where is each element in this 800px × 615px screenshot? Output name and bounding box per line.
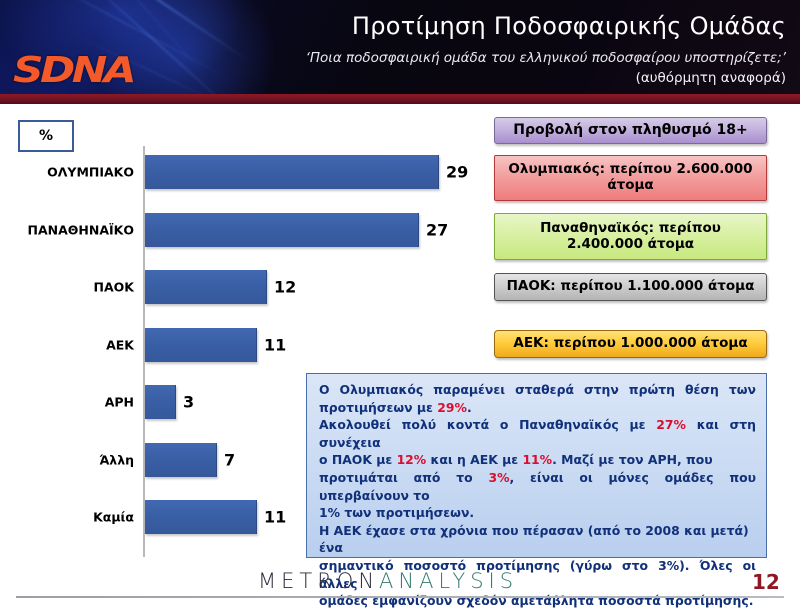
bar-category-label: ΑΡΗ	[13, 395, 143, 410]
callout-projection-title: Προβολή στον πληθυσμό 18+	[494, 117, 767, 144]
commentary-text: . Μαζί με τον ΑΡΗ, που	[552, 452, 713, 467]
bar	[145, 328, 257, 362]
bar-value-label: 11	[264, 335, 286, 354]
commentary-text: Ακολουθεί πολύ κοντά ο Παναθηναϊκός με	[319, 417, 656, 432]
commentary-line: Ακολουθεί πολύ κοντά ο Παναθηναϊκός με 2…	[319, 416, 756, 451]
bar-category-label: Άλλη	[13, 452, 143, 467]
brand-analysis: ANALYSIS	[379, 569, 518, 593]
callout-olympiakos: Ολυμπιακός: περίπου 2.600.000 άτομα	[494, 155, 767, 201]
metron-analysis-logo: METRONANALYSIS	[258, 569, 518, 593]
commentary-box: Ο Ολυμπιακός παραμένει σταθερά στην πρώτ…	[306, 373, 767, 558]
bar-value-label: 27	[426, 220, 448, 239]
footer-divider	[16, 596, 784, 598]
commentary-text: 1% των προτιμήσεων.	[319, 505, 474, 520]
callout-panathinaikos: Παναθηναϊκός: περίπου 2.400.000 άτομα	[494, 213, 767, 260]
bar	[145, 443, 217, 477]
commentary-highlight: 3%	[488, 470, 509, 485]
callout-paok: ΠΑΟΚ: περίπου 1.100.000 άτομα	[494, 273, 767, 301]
bar-category-label: ΑΕΚ	[13, 337, 143, 352]
commentary-line: προτιμάται από το 3%, είναι οι μόνες ομά…	[319, 469, 756, 504]
commentary-line: ο ΠΑΟΚ με 12% και η ΑΕΚ με 11%. Μαζί με …	[319, 451, 756, 469]
commentary-highlight: 11%	[522, 452, 552, 467]
commentary-line: Ο Ολυμπιακός παραμένει σταθερά στην πρώτ…	[319, 381, 756, 399]
bar	[145, 385, 176, 419]
commentary-line: 1% των προτιμήσεων.	[319, 504, 756, 522]
commentary-highlight: 29%	[437, 400, 467, 415]
bar-value-label: 12	[274, 278, 296, 297]
bar	[145, 500, 257, 534]
bar	[145, 270, 267, 304]
bar-value-label: 7	[224, 450, 235, 469]
commentary-text: Η ΑΕΚ έχασε στα χρόνια που πέρασαν (από …	[319, 523, 749, 556]
bar	[145, 213, 419, 247]
commentary-text: προτιμήσεων με	[319, 400, 437, 415]
bar-value-label: 3	[183, 393, 194, 412]
commentary-highlight: 12%	[397, 452, 427, 467]
callout-aek: ΑΕΚ: περίπου 1.000.000 άτομα	[494, 330, 767, 358]
bar-category-label: ΠΑΝΑΘΗΝΑΪΚΟ	[13, 222, 143, 237]
commentary-text: .	[467, 400, 472, 415]
bar-category-label: ΟΛΥΜΠΙΑΚΟ	[13, 165, 143, 180]
commentary-text: Ο Ολυμπιακός παραμένει σταθερά στην πρώτ…	[319, 382, 756, 397]
slide: SDNA Προτίμηση Ποδοσφαιρικής Ομάδας ‘Ποι…	[0, 0, 800, 615]
commentary-text: ο ΠΑΟΚ με	[319, 452, 397, 467]
commentary-text: προτιμάται από το	[319, 470, 488, 485]
commentary-highlight: 27%	[656, 417, 686, 432]
bar-value-label: 29	[446, 163, 468, 182]
page-number: 12	[752, 570, 780, 594]
bar-category-label: Καμία	[13, 510, 143, 525]
bar	[145, 155, 439, 189]
commentary-line: ομάδες εμφανίζουν σχεδόν αμετάβλητα ποσο…	[319, 592, 756, 610]
brand-metron: METRON	[258, 569, 379, 593]
bar-value-label: 11	[264, 508, 286, 527]
commentary-line: προτιμήσεων με 29%.	[319, 399, 756, 417]
bar-category-label: ΠΑΟΚ	[13, 280, 143, 295]
commentary-text: και η ΑΕΚ με	[426, 452, 522, 467]
commentary-line: Η ΑΕΚ έχασε στα χρόνια που πέρασαν (από …	[319, 522, 756, 557]
